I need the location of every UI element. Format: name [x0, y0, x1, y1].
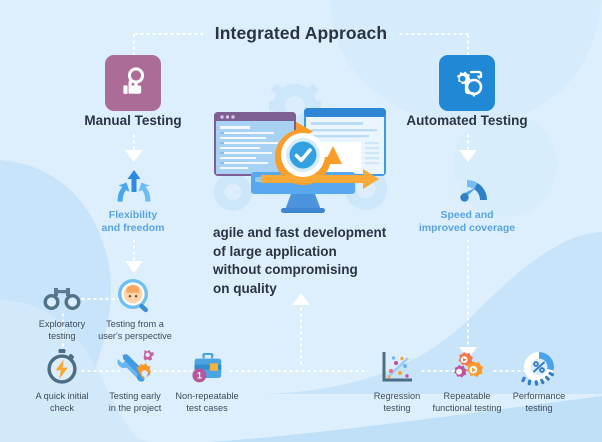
- leaf-label-line1: Testing from a: [89, 319, 181, 331]
- leaf-label-line1: Performance: [493, 391, 585, 403]
- three-way-arrows-icon: [110, 168, 158, 208]
- center-description: agile and fast development of large appl…: [213, 224, 398, 299]
- center-line-1: agile and fast development: [213, 224, 398, 243]
- arrow-benefit-to-leaves: [125, 261, 143, 273]
- infographic-canvas: Integrated Approach Manual Testing Flexi…: [0, 0, 602, 442]
- user-magnifier-icon-wrap: [89, 275, 181, 315]
- leaf-performance-testing[interactable]: Performance testing: [493, 347, 585, 415]
- briefcase-badge-icon-wrap: 1: [161, 347, 253, 387]
- scatter-chart-icon: [377, 349, 417, 387]
- binoculars-icon: [40, 283, 84, 315]
- center-illustration: [203, 84, 399, 218]
- leaf-label-line2: testing: [493, 403, 585, 415]
- percent-donut-icon-wrap: [493, 347, 585, 387]
- hand-with-magnifier-icon: [115, 65, 151, 101]
- arrow-manual-to-benefit: [125, 150, 143, 162]
- manual-benefit-label: Flexibility and freedom: [48, 209, 218, 235]
- manual-benefit-line2: and freedom: [48, 222, 218, 235]
- manual-benefit-line1: Flexibility: [48, 209, 218, 222]
- gears-cycle-icon: [449, 65, 485, 101]
- automated-testing-title: Automated Testing: [377, 113, 557, 128]
- manual-testing-title: Manual Testing: [43, 113, 223, 128]
- percent-donut-icon: [519, 349, 559, 387]
- automated-benefit-line2: improved coverage: [382, 222, 552, 235]
- leaf-user-perspective-testing[interactable]: Testing from a user's perspective: [89, 275, 181, 343]
- leaf-label: Testing from a user's perspective: [89, 319, 181, 343]
- connector-automated-benefit-to-leaves: [467, 238, 469, 348]
- stopwatch-bolt-icon: [42, 347, 82, 387]
- arrow-center-up: [292, 293, 310, 305]
- connector-center-down: [300, 306, 302, 366]
- center-line-2: of large application: [213, 243, 398, 262]
- connector-benefit-to-leaves: [133, 238, 135, 262]
- connector-automated-to-benefit: [467, 133, 469, 151]
- arrow-automated-to-benefit: [459, 150, 477, 162]
- automated-testing-icon-badge: [439, 55, 495, 111]
- leaf-label-line2: test cases: [161, 403, 253, 415]
- leaf-label-line2: user's perspective: [89, 331, 181, 343]
- manual-testing-icon-badge: [105, 55, 161, 111]
- briefcase-badge-icon: 1: [185, 349, 229, 387]
- leaf-label: Non-repeatable test cases: [161, 391, 253, 415]
- speedometer-icon: [443, 170, 491, 206]
- wrench-screwdriver-gear-icon: [113, 347, 157, 387]
- leaf-label-line1: Non-repeatable: [161, 391, 253, 403]
- automated-benefit-line1: Speed and: [382, 209, 552, 222]
- user-magnifier-icon: [114, 277, 156, 315]
- page-title: Integrated Approach: [0, 23, 602, 44]
- briefcase-badge-number: 1: [197, 371, 202, 381]
- play-gears-icon: [445, 349, 489, 387]
- checkmark-badge: [281, 133, 325, 177]
- automated-benefit-label: Speed and improved coverage: [382, 209, 552, 235]
- leaf-non-repeatable-test-cases[interactable]: 1 Non-repeatable test cases: [161, 347, 253, 415]
- connector-manual-to-benefit: [133, 133, 135, 151]
- leaf-label: Performance testing: [493, 391, 585, 415]
- center-line-3: without compromising: [213, 261, 398, 280]
